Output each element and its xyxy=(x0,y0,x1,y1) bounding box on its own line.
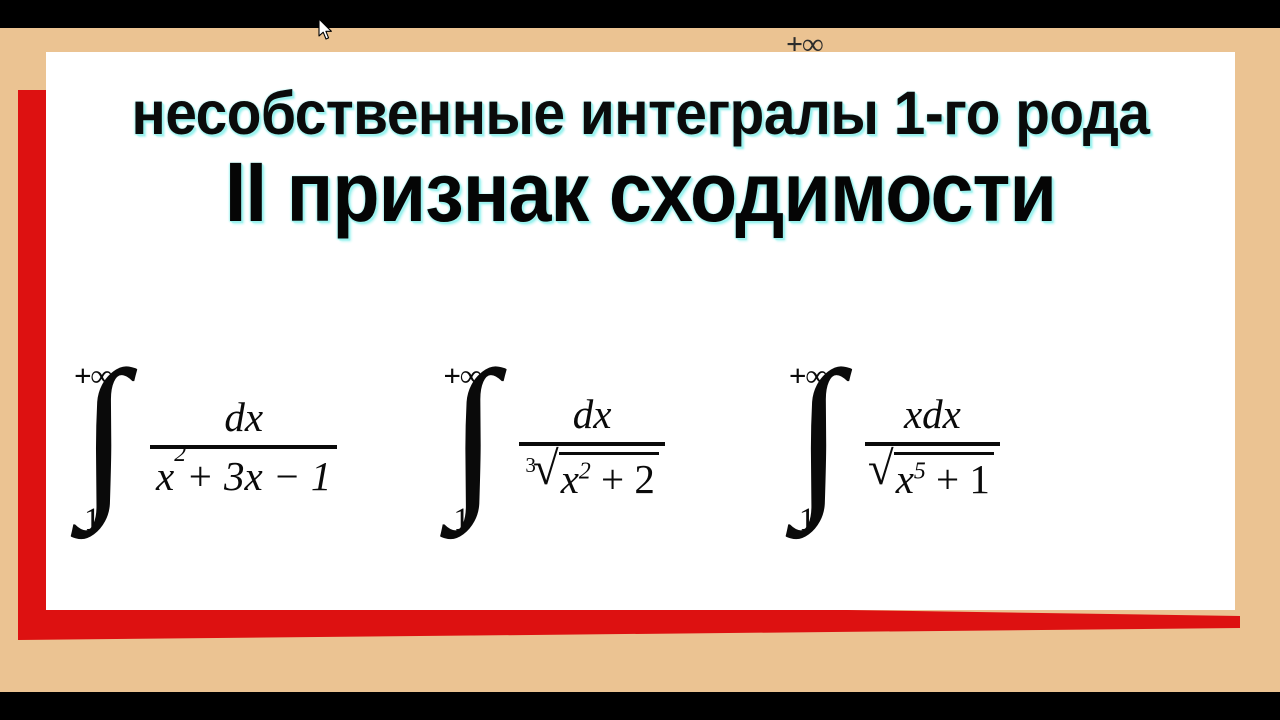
title-block: несобственные интегралы 1-го рода II при… xyxy=(46,52,1235,236)
fraction-denominator-3: √x5 + 1 xyxy=(865,446,1000,503)
radical-surd-icon-3: √ xyxy=(868,449,894,489)
slide-card: несобственные интегралы 1-го рода II при… xyxy=(46,52,1235,610)
radicand-exponent-3: 5 xyxy=(914,458,926,484)
mouse-cursor-icon xyxy=(318,18,334,42)
formula-integral-2: +∞ ∫ 1 dx 3√x2 + 2 xyxy=(443,352,665,538)
radicand-rest-2: + 2 xyxy=(591,456,655,502)
radical-surd-icon-2: √ xyxy=(533,449,559,489)
integral-sign-icon-3: ∫ xyxy=(795,346,843,522)
fraction-denominator-1: x2 + 3x − 1 xyxy=(150,449,337,500)
denominator-base-1: x xyxy=(156,454,174,500)
formula-integral-1: +∞ ∫ 1 dx x2 + 3x − 1 xyxy=(74,352,337,538)
cube-root-radical-2: 3√x2 + 2 xyxy=(525,451,659,503)
ghost-caption-fragment-bottom: интегралов 1-го рода) xyxy=(452,608,676,634)
fraction-numerator-2: dx xyxy=(561,392,624,442)
integral-lower-limit-2: 1 xyxy=(453,502,470,539)
radicand-2: x2 + 2 xyxy=(559,452,659,503)
integral-sign-icon-1: ∫ xyxy=(80,346,128,522)
fraction-numerator-3: xdx xyxy=(892,392,973,442)
integral-lower-limit-1: 1 xyxy=(84,502,101,539)
denominator-rest-1: + 3x − 1 xyxy=(186,454,331,500)
radicand-base-3: x xyxy=(896,456,914,502)
fraction-1: dx x2 + 3x − 1 xyxy=(150,395,337,500)
fraction-2: dx 3√x2 + 2 xyxy=(519,392,665,503)
letterbox-bottom xyxy=(0,692,1280,720)
integral-sign-icon-2: ∫ xyxy=(449,346,497,522)
fraction-3: xdx √x5 + 1 xyxy=(865,392,1000,503)
radicand-rest-3: + 1 xyxy=(926,456,990,502)
radicand-base-2: x xyxy=(561,456,579,502)
fraction-denominator-2: 3√x2 + 2 xyxy=(519,446,665,503)
page-title-secondary: II признак сходимости xyxy=(94,144,1188,236)
integral-lower-limit-3: 1 xyxy=(799,502,816,539)
integral-sign-group-2: +∞ ∫ 1 xyxy=(443,352,507,538)
radicand-exponent-2: 2 xyxy=(579,458,591,484)
radicand-3: x5 + 1 xyxy=(894,452,994,503)
integral-sign-group-3: +∞ ∫ 1 xyxy=(789,352,853,538)
letterbox-top xyxy=(0,0,1280,28)
fraction-numerator-1: dx xyxy=(212,395,275,445)
square-root-radical-3: √x5 + 1 xyxy=(871,451,994,503)
page-title-primary: несобственные интегралы 1-го рода xyxy=(88,52,1194,144)
formula-integral-3: +∞ ∫ 1 xdx √x5 + 1 xyxy=(789,352,1000,538)
video-frame: +∞ интегралов 1-го рода) несобственные и… xyxy=(0,0,1280,720)
integral-sign-group-1: +∞ ∫ 1 xyxy=(74,352,138,538)
formula-row: +∞ ∫ 1 dx x2 + 3x − 1 +∞ ∫ 1 xyxy=(46,352,1235,582)
